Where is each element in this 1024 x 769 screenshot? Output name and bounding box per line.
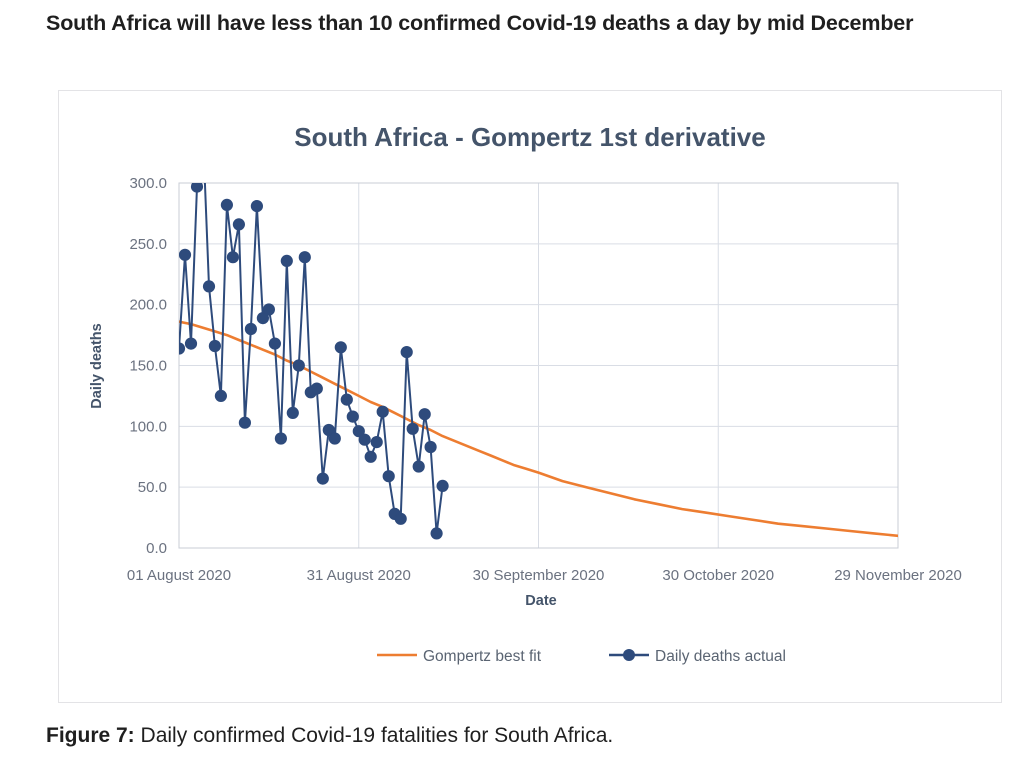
- y-axis-tick-labels: 0.050.0100.0150.0200.0250.0300.0: [129, 175, 167, 557]
- data-point-marker: [209, 340, 220, 351]
- data-point-marker: [401, 347, 412, 358]
- data-point-marker: [263, 304, 274, 315]
- y-tick-label: 250.0: [129, 236, 167, 253]
- data-point-marker: [245, 323, 256, 334]
- x-tick-label: 31 August 2020: [307, 567, 411, 584]
- data-point-marker: [347, 411, 358, 422]
- page-headline: South Africa will have less than 10 conf…: [46, 8, 996, 39]
- data-point-marker: [233, 219, 244, 230]
- x-tick-label: 01 August 2020: [127, 567, 231, 584]
- figure-caption-label: Figure 7:: [46, 724, 135, 747]
- data-point-marker: [197, 129, 208, 140]
- data-point-marker: [179, 249, 190, 260]
- data-point-marker: [221, 199, 232, 210]
- data-point-marker: [317, 473, 328, 484]
- data-point-marker: [227, 252, 238, 263]
- y-axis-title: Daily deaths: [89, 323, 105, 408]
- data-point-marker: [215, 390, 226, 401]
- chart-series-layer: [173, 129, 898, 539]
- data-point-marker: [299, 252, 310, 263]
- data-point-marker: [287, 407, 298, 418]
- data-point-marker: [383, 471, 394, 482]
- data-point-marker: [173, 343, 184, 354]
- data-point-marker: [359, 434, 370, 445]
- data-point-marker: [413, 461, 424, 472]
- y-tick-label: 0.0: [146, 540, 167, 557]
- figure-caption-text: Daily confirmed Covid-19 fatalities for …: [135, 724, 614, 747]
- data-point-marker: [395, 513, 406, 524]
- chart-legend: Gompertz best fitDaily deaths actual: [377, 648, 786, 665]
- chart-title: South Africa - Gompertz 1st derivative: [294, 122, 765, 152]
- legend-label: Gompertz best fit: [423, 648, 542, 665]
- chart-gridlines: [179, 183, 898, 548]
- data-point-marker: [239, 417, 250, 428]
- data-point-marker: [293, 360, 304, 371]
- data-point-marker: [275, 433, 286, 444]
- legend-label: Daily deaths actual: [655, 648, 786, 665]
- data-point-marker: [311, 383, 322, 394]
- x-axis-title: Date: [525, 593, 556, 609]
- data-point-marker: [335, 342, 346, 353]
- y-tick-label: 50.0: [138, 479, 167, 496]
- legend-item[interactable]: Gompertz best fit: [377, 648, 542, 665]
- data-point-marker: [437, 480, 448, 491]
- y-tick-label: 200.0: [129, 297, 167, 314]
- y-tick-label: 100.0: [129, 418, 167, 435]
- y-tick-label: 300.0: [129, 175, 167, 192]
- x-tick-label: 30 October 2020: [662, 567, 774, 584]
- data-point-marker: [377, 406, 388, 417]
- data-point-marker: [185, 338, 196, 349]
- figure-container: South Africa - Gompertz 1st derivative 0…: [58, 90, 1002, 703]
- data-point-marker: [371, 437, 382, 448]
- gompertz-chart: South Africa - Gompertz 1st derivative 0…: [59, 91, 1001, 702]
- data-point-marker: [419, 409, 430, 420]
- chart-series: [173, 129, 448, 539]
- x-axis-tick-labels: 01 August 202031 August 202030 September…: [127, 567, 962, 584]
- data-point-marker: [281, 255, 292, 266]
- data-point-marker: [269, 338, 280, 349]
- data-point-marker: [341, 394, 352, 405]
- data-point-marker: [425, 441, 436, 452]
- figure-page: South Africa will have less than 10 conf…: [0, 0, 1024, 769]
- data-point-marker: [407, 423, 418, 434]
- data-point-marker: [431, 528, 442, 539]
- data-point-marker: [203, 281, 214, 292]
- legend-item[interactable]: Daily deaths actual: [609, 648, 786, 665]
- figure-caption: Figure 7: Daily confirmed Covid-19 fatal…: [46, 722, 996, 749]
- data-point-marker: [251, 201, 262, 212]
- data-point-marker: [365, 451, 376, 462]
- y-tick-label: 150.0: [129, 358, 167, 375]
- x-tick-label: 30 September 2020: [473, 567, 605, 584]
- x-tick-label: 29 November 2020: [834, 567, 962, 584]
- data-point-marker: [329, 433, 340, 444]
